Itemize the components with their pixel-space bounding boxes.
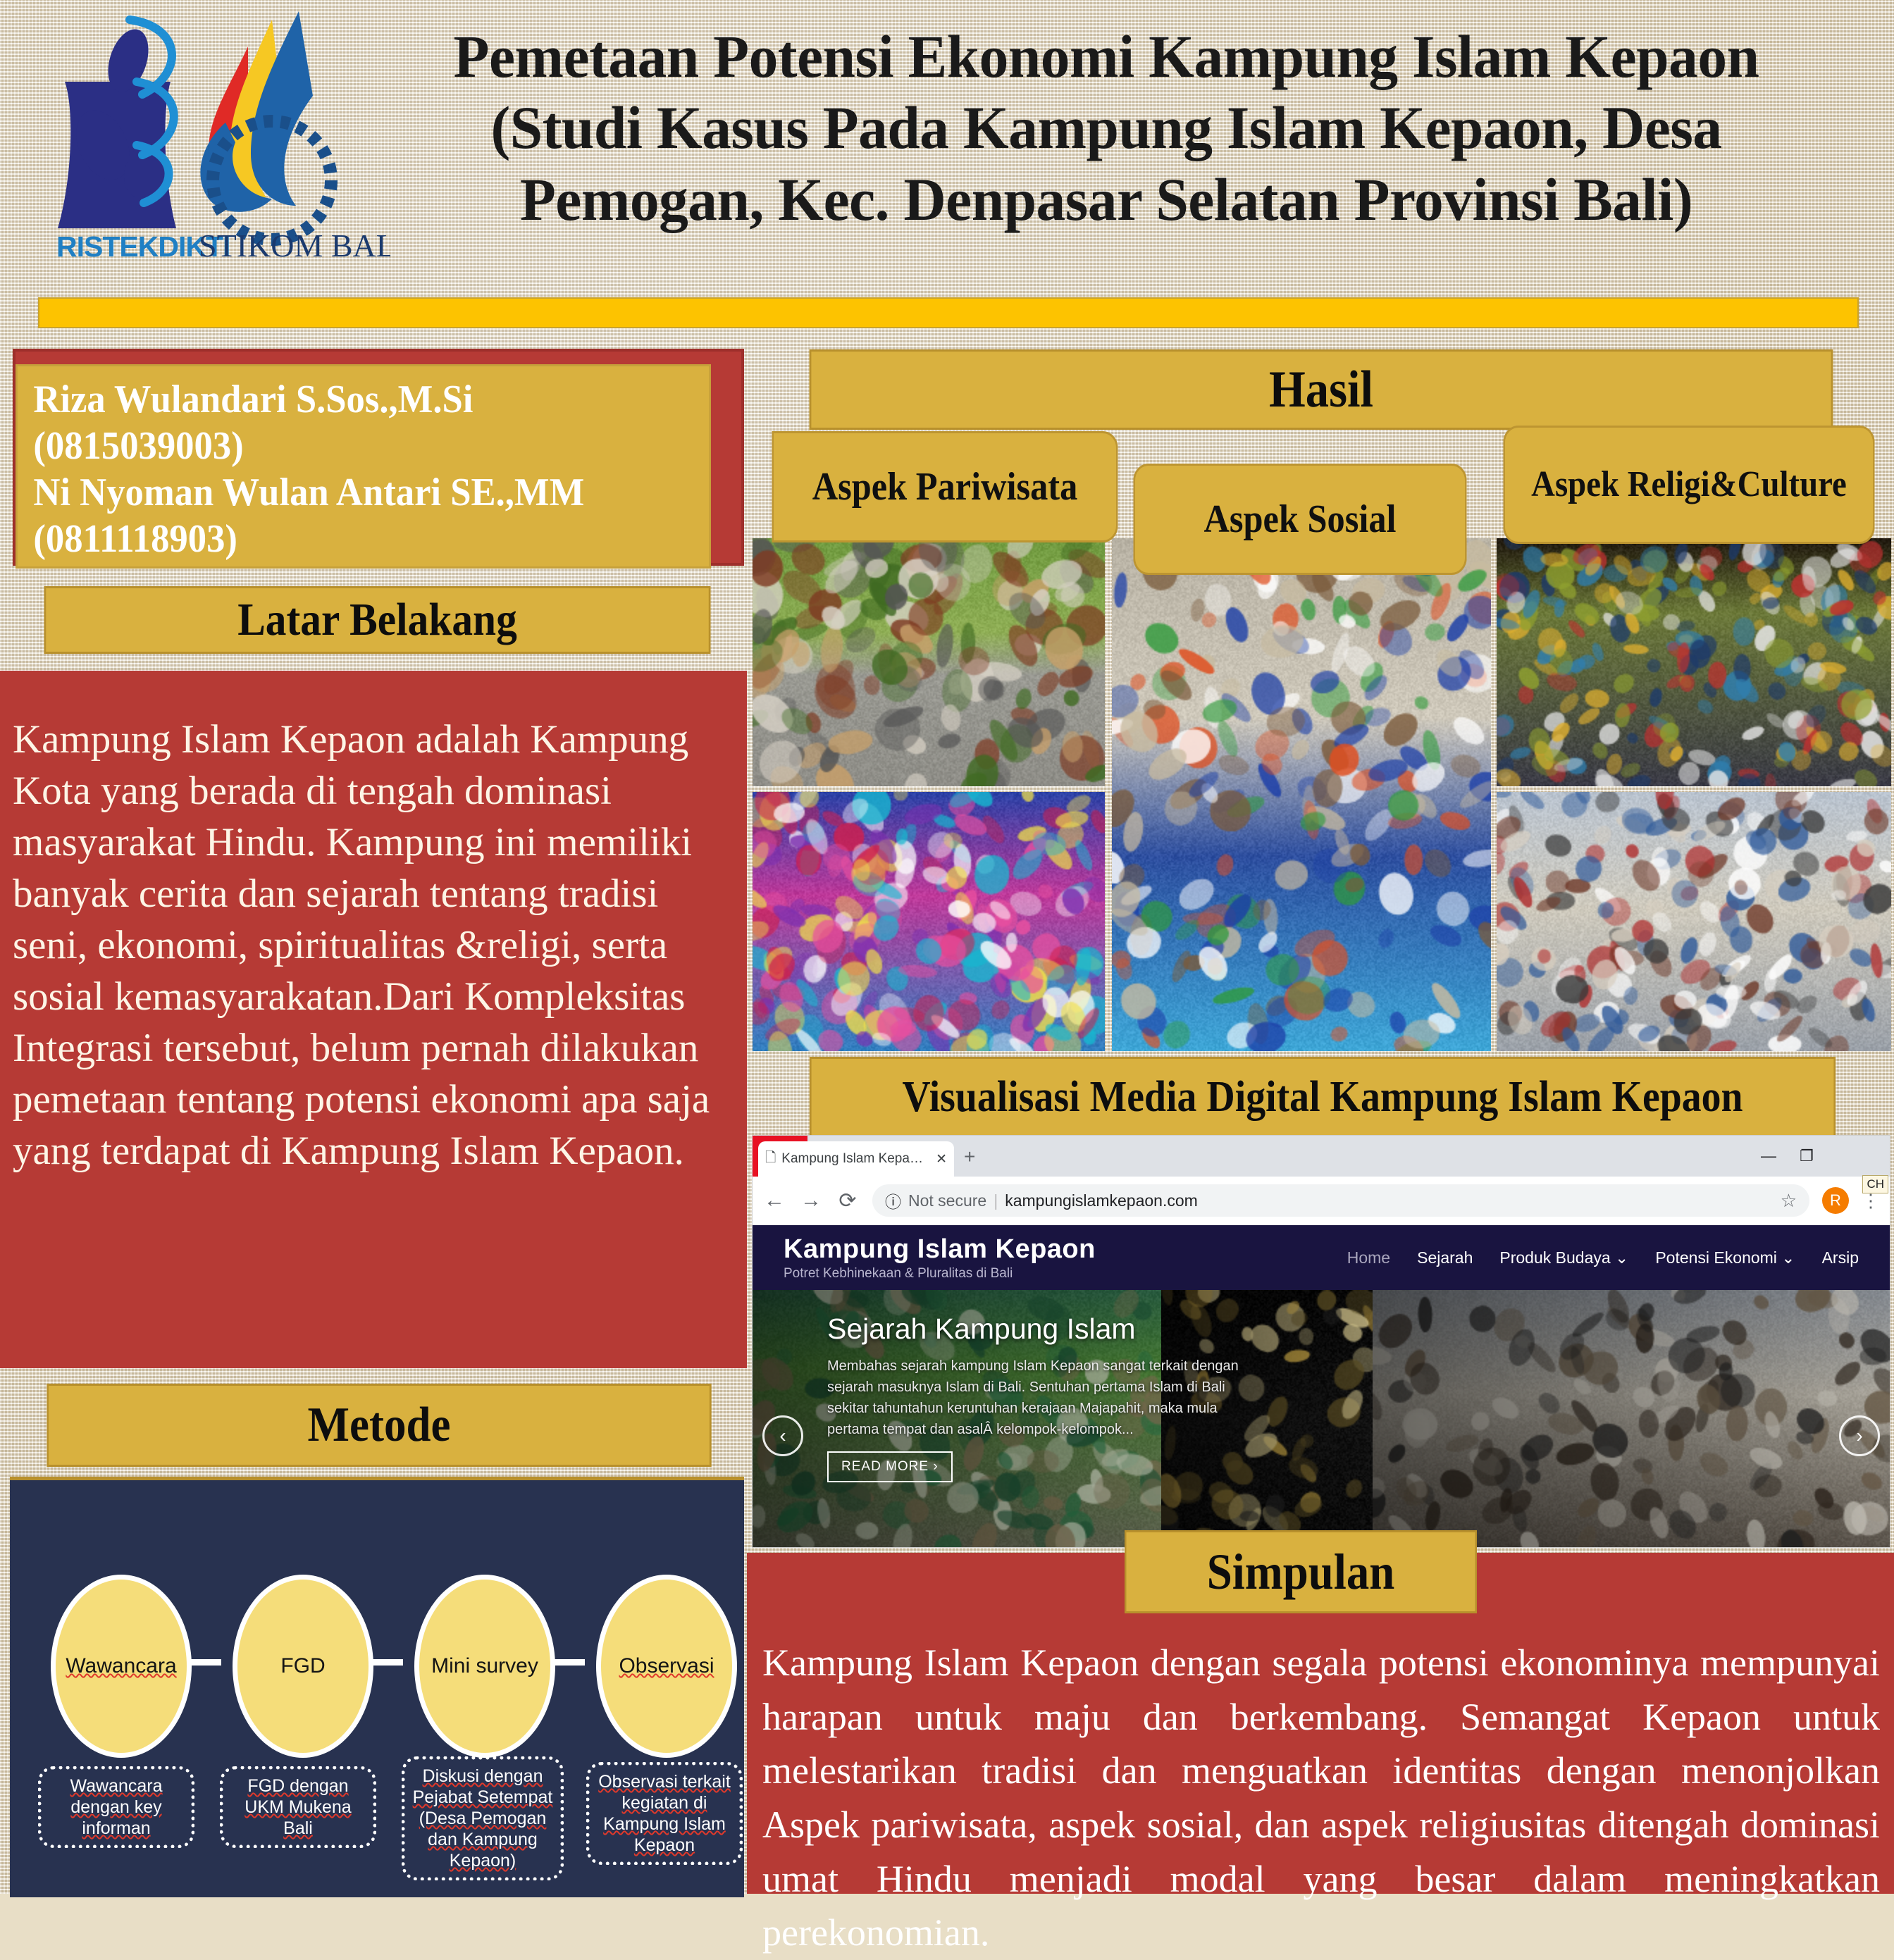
author-1-name: Riza Wulandari S.Sos.,M.Si (33, 376, 693, 423)
reload-icon[interactable]: ⟳ (836, 1189, 860, 1213)
section-heading-latar-belakang: Latar Belakang (44, 586, 711, 654)
bookmark-star-icon[interactable]: ☆ (1781, 1190, 1797, 1212)
author-2-phone: (0811118903) (33, 516, 693, 562)
title-line-2: (Studi Kasus Pada Kampung Islam Kepaon, … (361, 92, 1852, 163)
carousel-caption: Sejarah Kampung Islam Membahas sejarah k… (827, 1313, 1264, 1482)
poster-title-wrap: Pemetaan Potensi Ekonomi Kampung Islam K… (331, 21, 1881, 282)
nav-item-produk-budaya[interactable]: Produk Budaya ⌄ (1499, 1248, 1628, 1267)
site-brand[interactable]: Kampung Islam Kepaon Potret Kebhinekaan … (784, 1234, 1096, 1282)
aspect-label-pariwisata: Aspek Pariwisata (772, 431, 1118, 542)
avatar[interactable]: R (1822, 1187, 1849, 1214)
site-brand-name: Kampung Islam Kepaon (784, 1234, 1096, 1265)
section-heading-metode: Metode (47, 1384, 711, 1467)
metode-step-oval-3[interactable]: Mini survey (414, 1575, 555, 1758)
author-1-phone: (0815039003) (33, 423, 693, 469)
chevron-left-icon[interactable]: ‹ (762, 1415, 803, 1456)
metode-step-oval-4[interactable]: Observasi (596, 1575, 737, 1758)
maximize-button[interactable]: ❐ (1791, 1143, 1822, 1170)
metode-diagram: Wawancara FGD Mini survey Observasi Wawa… (10, 1477, 744, 1897)
chevron-right-icon[interactable]: › (1839, 1415, 1880, 1456)
aspect-label-religi-culture: Aspek Religi&Culture (1503, 426, 1874, 544)
read-more-button[interactable]: READ MORE › (827, 1451, 953, 1482)
carousel-body: Membahas sejarah kampung Islam Kepaon sa… (827, 1356, 1264, 1440)
site-tagline: Potret Kebhinekaan & Pluralitas di Bali (784, 1266, 1096, 1282)
address-bar[interactable]: ⓘ Not secure | kampungislamkepaon.com ☆ (872, 1184, 1809, 1217)
metode-note-3: Diskusi dengan Pejabat Setempat (Desa Pe… (402, 1756, 564, 1880)
browser-tab[interactable]: 🗋 Kampung Islam Kepaon – Potret ✕ (758, 1141, 954, 1177)
photo-horse-cart (753, 538, 1105, 786)
title-line-3: Pemogan, Kec. Denpasar Selatan Provinsi … (361, 164, 1852, 235)
authors-box: Riza Wulandari S.Sos.,M.Si (0815039003) … (16, 364, 711, 569)
browser-tab-strip: 🗋 Kampung Islam Kepaon – Potret ✕ + — ❐ … (753, 1136, 1890, 1177)
nav-item-home[interactable]: Home (1347, 1248, 1390, 1267)
new-tab-button[interactable]: + (964, 1147, 975, 1167)
close-icon[interactable]: ✕ (936, 1151, 947, 1167)
metode-step-oval-1[interactable]: Wawancara (51, 1575, 192, 1758)
forward-icon[interactable]: → (799, 1189, 823, 1212)
poster-canvas: RISTEKDIKTI STIKOM BALI Pemetaan Potensi… (0, 0, 1894, 1894)
site-hero-carousel: Sejarah Kampung Islam Membahas sejarah k… (753, 1290, 1890, 1547)
nav-item-arsip[interactable]: Arsip (1822, 1248, 1859, 1267)
photo-fabric-stall (753, 792, 1105, 1051)
url-text: kampungislamkepaon.com (1005, 1191, 1198, 1210)
title-divider-bar (38, 297, 1859, 328)
metode-step-oval-2[interactable]: FGD (233, 1575, 373, 1758)
site-nav: Home Sejarah Produk Budaya ⌄ Potensi Eko… (1347, 1248, 1859, 1267)
metode-note-4: Observasi terkait kegiatan di Kampung Is… (586, 1762, 743, 1865)
extension-tooltip: CH (1862, 1175, 1888, 1193)
nav-item-sejarah[interactable]: Sejarah (1417, 1248, 1473, 1267)
carousel-title: Sejarah Kampung Islam (827, 1313, 1264, 1346)
section-heading-visualisasi: Visualisasi Media Digital Kampung Islam … (810, 1057, 1836, 1137)
browser-tab-title: Kampung Islam Kepaon – Potret (781, 1151, 930, 1167)
browser-window: 🗋 Kampung Islam Kepaon – Potret ✕ + — ❐ … (753, 1136, 1890, 1547)
info-icon[interactable]: ⓘ (885, 1189, 901, 1212)
site-header: Kampung Islam Kepaon Potret Kebhinekaan … (753, 1225, 1890, 1290)
nav-item-potensi-ekonomi[interactable]: Potensi Ekonomi ⌄ (1655, 1248, 1795, 1267)
section-heading-simpulan: Simpulan (1125, 1530, 1477, 1613)
authors-frame: Riza Wulandari S.Sos.,M.Si (0815039003) … (13, 349, 744, 566)
page-title: Pemetaan Potensi Ekonomi Kampung Islam K… (361, 21, 1852, 235)
hasil-photo-grid (753, 538, 1891, 1053)
title-line-1: Pemetaan Potensi Ekonomi Kampung Islam K… (361, 21, 1852, 92)
metode-note-1: Wawancara dengan key informan (38, 1766, 194, 1848)
aspect-label-sosial: Aspek Sosial (1133, 464, 1466, 575)
section-heading-hasil: Hasil (810, 349, 1833, 430)
photo-religious-gathering (1497, 538, 1891, 786)
minimize-button[interactable]: — (1753, 1143, 1784, 1170)
metode-note-2: FGD dengan UKM Mukena Bali (220, 1766, 376, 1848)
page-icon: 🗋 (765, 1148, 776, 1170)
photo-market-vendor (1112, 538, 1491, 1051)
photo-street-crowd (1497, 792, 1891, 1051)
back-icon[interactable]: ← (762, 1189, 786, 1212)
security-status: Not secure (908, 1191, 986, 1210)
author-2-name: Ni Nyoman Wulan Antari SE.,MM (33, 469, 693, 516)
latar-belakang-body: Kampung Islam Kepaon adalah Kampung Kota… (0, 671, 747, 1368)
omnibox-separator: | (994, 1191, 998, 1210)
browser-omnibox-row: ← → ⟳ ⓘ Not secure | kampungislamkepaon.… (753, 1177, 1890, 1225)
